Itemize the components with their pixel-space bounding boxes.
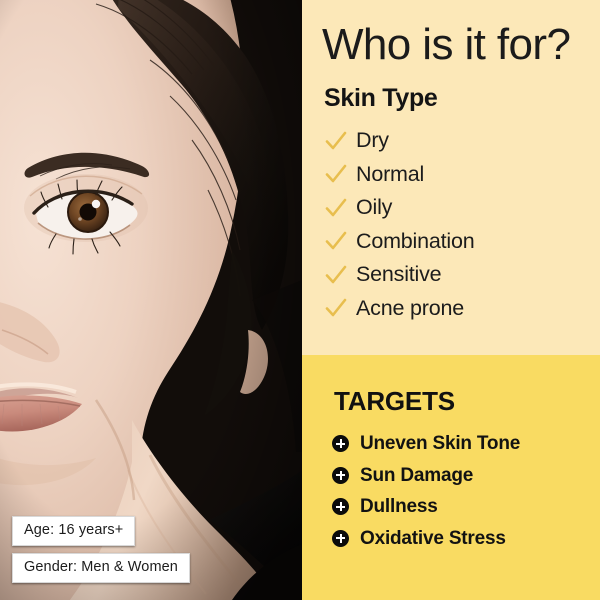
skin-type-label: Sensitive (356, 264, 441, 286)
skin-type-list: Dry Normal Oily (324, 124, 594, 325)
skin-type-heading: Skin Type (324, 86, 438, 111)
list-item: Combination (324, 225, 594, 259)
targets-heading: TARGETS (334, 388, 455, 414)
check-icon (324, 197, 348, 219)
list-item: Oily (324, 191, 594, 225)
portrait-photo-panel: Age: 16 years+ Gender: Men & Women (0, 0, 302, 600)
targets-list: Uneven Skin Tone Sun Damage Dullness Oxi… (332, 428, 597, 554)
skin-type-label: Oily (356, 197, 392, 219)
target-label: Uneven Skin Tone (360, 434, 520, 453)
skin-type-label: Combination (356, 231, 475, 253)
plus-circle-icon (332, 530, 349, 547)
gender-chip: Gender: Men & Women (12, 553, 190, 583)
plus-circle-icon (332, 467, 349, 484)
target-label: Dullness (360, 497, 438, 516)
portrait-photo (0, 0, 302, 600)
skin-type-label: Acne prone (356, 298, 464, 320)
content-panel: Who is it for? Skin Type Dry Normal (302, 0, 600, 600)
check-icon (324, 264, 348, 286)
target-label: Oxidative Stress (360, 529, 506, 548)
list-item: Dullness (332, 491, 597, 523)
list-item: Normal (324, 158, 594, 192)
product-info-poster: Age: 16 years+ Gender: Men & Women Who i… (0, 0, 600, 600)
page-title: Who is it for? (322, 22, 570, 68)
check-icon (324, 297, 348, 319)
target-label: Sun Damage (360, 466, 473, 485)
list-item: Oxidative Stress (332, 523, 597, 555)
skin-type-label: Normal (356, 164, 424, 186)
skin-type-label: Dry (356, 130, 389, 152)
plus-circle-icon (332, 498, 349, 515)
list-item: Uneven Skin Tone (332, 428, 597, 460)
list-item: Sensitive (324, 258, 594, 292)
plus-circle-icon (332, 435, 349, 452)
list-item: Sun Damage (332, 460, 597, 492)
age-chip: Age: 16 years+ (12, 516, 135, 546)
check-icon (324, 163, 348, 185)
check-icon (324, 130, 348, 152)
list-item: Dry (324, 124, 594, 158)
check-icon (324, 230, 348, 252)
list-item: Acne prone (324, 292, 594, 326)
